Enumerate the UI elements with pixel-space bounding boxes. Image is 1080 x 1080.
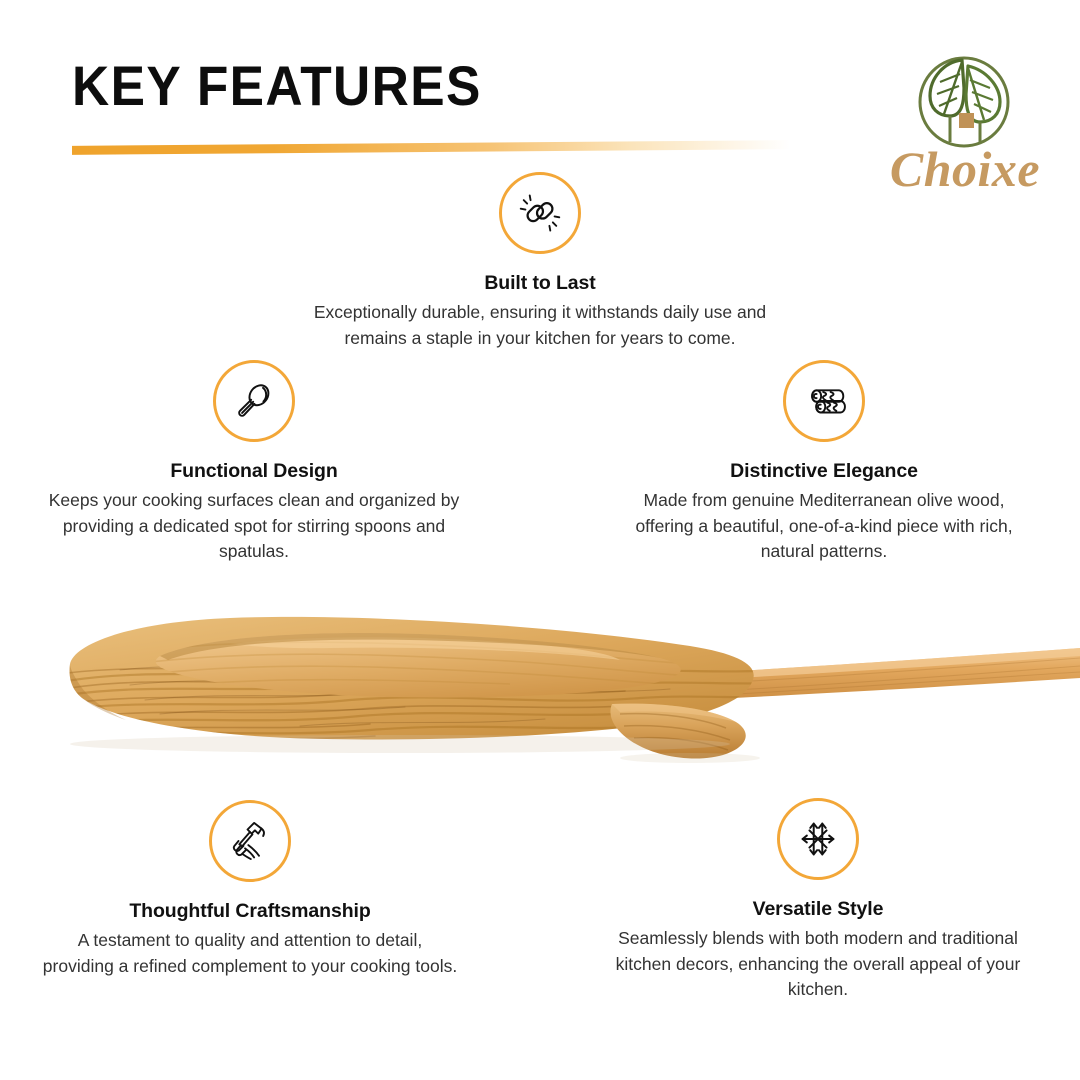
key-features-page: KEY FEATURES Choixe: [0, 0, 1080, 1080]
title-underline-accent: [72, 140, 790, 155]
feature-versatile-style: Versatile Style Seamlessly blends with b…: [608, 798, 1028, 1003]
feature-title: Built to Last: [290, 272, 790, 295]
product-image-olive-wood-spoon-rest: [0, 586, 1080, 786]
feature-description: Made from genuine Mediterranean olive wo…: [615, 488, 1033, 565]
feature-title: Distinctive Elegance: [615, 460, 1033, 483]
olive-leaves-circle-icon: [908, 52, 1020, 150]
wood-logs-icon: [783, 360, 865, 442]
hand-holding-hammer-icon: [209, 800, 291, 882]
feature-description: Exceptionally durable, ensuring it withs…: [290, 300, 790, 351]
four-way-arrows-icon: [777, 798, 859, 880]
feature-title: Versatile Style: [608, 898, 1028, 921]
feature-description: Seamlessly blends with both modern and t…: [608, 926, 1028, 1003]
page-title: KEY FEATURES: [72, 58, 482, 114]
feature-thoughtful-craftsmanship: Thoughtful Craftsmanship A testament to …: [40, 800, 460, 979]
feature-title: Thoughtful Craftsmanship: [40, 900, 460, 923]
feature-distinctive-elegance: Distinctive Elegance Made from genuine M…: [615, 360, 1033, 565]
brand-wordmark: Choixe: [880, 144, 1050, 194]
feature-built-to-last: Built to Last Exceptionally durable, ens…: [290, 172, 790, 351]
feature-description: A testament to quality and attention to …: [40, 928, 460, 979]
feature-functional-design: Functional Design Keeps your cooking sur…: [45, 360, 463, 565]
chain-link-sparkle-icon: [499, 172, 581, 254]
spoon-icon: [213, 360, 295, 442]
feature-description: Keeps your cooking surfaces clean and or…: [45, 488, 463, 565]
brand-logo: Choixe: [880, 50, 1050, 210]
feature-title: Functional Design: [45, 460, 463, 483]
